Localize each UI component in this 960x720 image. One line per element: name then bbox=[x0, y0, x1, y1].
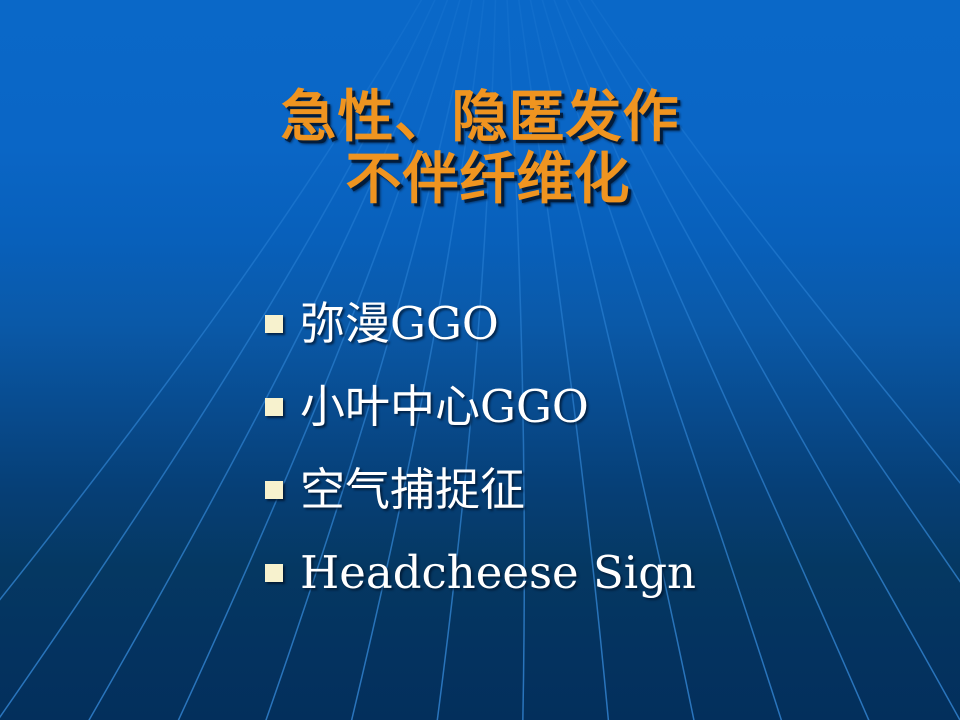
slide-title: 急性、隐匿发作 不伴纤维化 bbox=[0, 88, 960, 208]
bullet-list: 弥漫GGO 小叶中心GGO 空气捕捉征 Headcheese Sign bbox=[262, 282, 902, 614]
square-bullet-icon bbox=[265, 481, 283, 499]
list-item: 小叶中心GGO bbox=[262, 365, 902, 448]
list-item: Headcheese Sign bbox=[262, 531, 902, 614]
title-line-1: 急性、隐匿发作 bbox=[0, 88, 960, 146]
square-bullet-icon bbox=[265, 315, 283, 333]
list-item: 弥漫GGO bbox=[262, 282, 902, 365]
square-bullet-icon bbox=[265, 564, 283, 582]
title-line-2: 不伴纤维化 bbox=[0, 150, 960, 208]
presentation-slide: 急性、隐匿发作 不伴纤维化 弥漫GGO 小叶中心GGO 空气捕捉征 Headch… bbox=[0, 0, 960, 720]
list-item: 空气捕捉征 bbox=[262, 448, 902, 531]
list-item-label: 小叶中心GGO bbox=[300, 384, 589, 429]
list-item-label: Headcheese Sign bbox=[300, 550, 696, 595]
list-item-label: 空气捕捉征 bbox=[300, 467, 525, 512]
list-item-label: 弥漫GGO bbox=[300, 301, 499, 346]
square-bullet-icon bbox=[265, 398, 283, 416]
